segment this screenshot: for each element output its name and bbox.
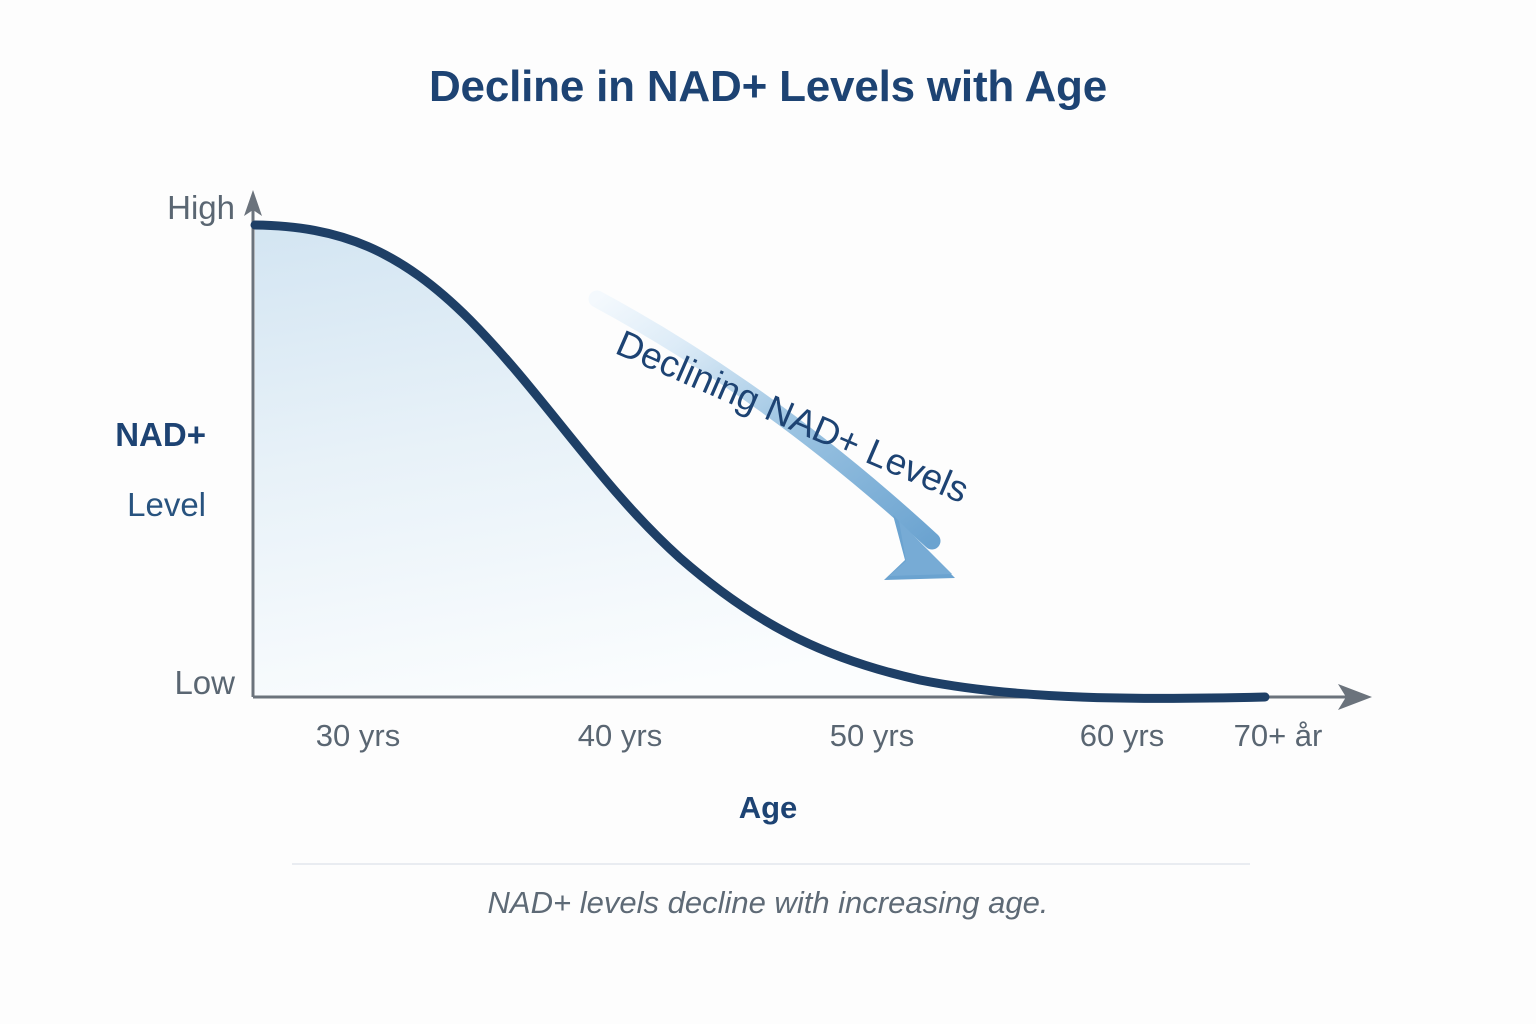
figure-caption: NAD+ levels decline with increasing age. xyxy=(0,885,1536,921)
declining-annotation-label: Declining NAD+ Levels xyxy=(610,322,974,510)
area-fill xyxy=(255,225,1265,698)
y-axis-title-line1: NAD+ xyxy=(20,417,206,453)
y-axis-title: NAD+ Level xyxy=(20,382,206,557)
y-axis-title-line2: Level xyxy=(20,487,206,523)
x-tick-label-40: 40 yrs xyxy=(510,718,730,754)
annotation-tspan: Declining NAD+ Levels xyxy=(610,322,974,510)
chart-canvas: Declining NAD+ Levels xyxy=(0,0,1536,1024)
x-tick-label-50: 50 yrs xyxy=(762,718,982,754)
x-tick-label-30: 30 yrs xyxy=(248,718,468,754)
y-axis-high-label: High xyxy=(60,189,235,227)
y-axis-low-label: Low xyxy=(60,664,235,702)
chart-figure: Declining NAD+ Levels Decline in NAD+ Le… xyxy=(0,0,1536,1024)
page-title: Decline in NAD+ Levels with Age xyxy=(0,62,1536,112)
x-tick-label-70: 70+ år xyxy=(1168,718,1388,754)
x-axis-title: Age xyxy=(0,790,1536,826)
